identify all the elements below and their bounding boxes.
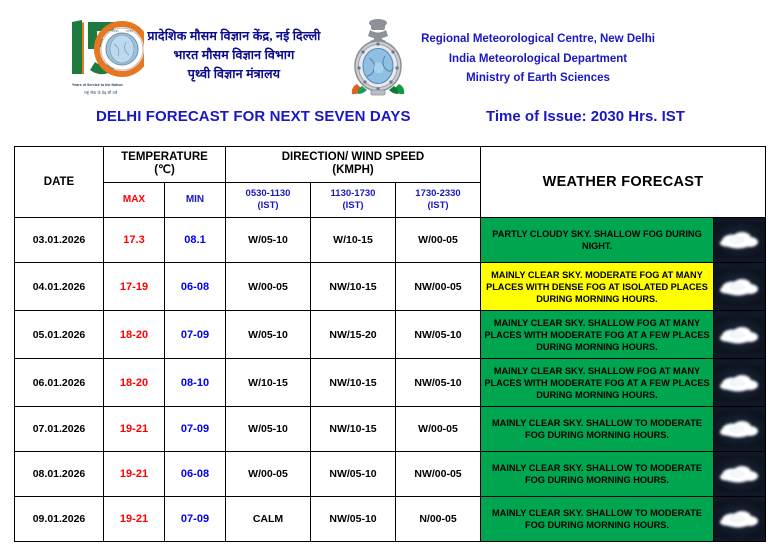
- table-row: 03.01.202617.308.1W/05-10W/10-15W/00-05P…: [15, 218, 766, 263]
- imd-emblem-icon: [345, 16, 411, 100]
- col-header-min: MIN: [165, 182, 226, 218]
- cell-wind-slot-3: W/00-05: [396, 407, 481, 452]
- cell-min-temp: 08-10: [165, 359, 226, 407]
- cell-max-temp: 17.3: [104, 218, 165, 263]
- cell-weather-forecast: MAINLY CLEAR SKY. SHALLOW FOG AT MANY PL…: [481, 359, 714, 407]
- cell-wind-slot-2: NW/05-10: [311, 497, 396, 542]
- cell-max-temp: 19-21: [104, 497, 165, 542]
- cell-min-temp: 08.1: [165, 218, 226, 263]
- cell-date: 09.01.2026: [15, 497, 104, 542]
- table-row: 04.01.202617-1906-08W/00-05NW/10-15NW/00…: [15, 263, 766, 311]
- cell-weather-icon: [714, 407, 766, 452]
- forecast-table-body: 03.01.202617.308.1W/05-10W/10-15W/00-05P…: [15, 218, 766, 542]
- cell-weather-icon: [714, 452, 766, 497]
- cell-wind-slot-2: NW/10-15: [311, 263, 396, 311]
- slot-3-range: 1730-2330: [415, 188, 460, 199]
- cell-max-temp: 19-21: [104, 452, 165, 497]
- cell-date: 08.01.2026: [15, 452, 104, 497]
- col-header-wind: DIRECTION/ WIND SPEED (KMPH): [226, 147, 481, 183]
- cell-date: 03.01.2026: [15, 218, 104, 263]
- hindi-line-3: पृथ्वी विज्ञान मंत्रालय: [128, 65, 340, 84]
- cell-min-temp: 06-08: [165, 452, 226, 497]
- cell-weather-icon: [714, 359, 766, 407]
- table-row: 08.01.202619-2106-08W/00-05NW/05-10NW/00…: [15, 452, 766, 497]
- cell-weather-forecast: MAINLY CLEAR SKY. SHALLOW TO MODERATE FO…: [481, 497, 714, 542]
- wind-unit: (KMPH): [332, 164, 374, 176]
- hindi-org-title: प्रादेशिक मौसम विज्ञान केंद्र, नई दिल्ली…: [128, 27, 340, 84]
- cell-wind-slot-3: NW/05-10: [396, 359, 481, 407]
- title-row: DELHI FORECAST FOR NEXT SEVEN DAYS Time …: [0, 108, 777, 134]
- table-row: 07.01.202619-2107-09W/05-10NW/10-15W/00-…: [15, 407, 766, 452]
- svg-text:राष्ट्र सेवा के डेढ़ सौ वर्ष: राष्ट्र सेवा के डेढ़ सौ वर्ष: [84, 90, 118, 95]
- cloud-icon: [714, 317, 765, 353]
- col-header-temperature: TEMPERATURE (℃): [104, 147, 226, 183]
- cell-weather-forecast: MAINLY CLEAR SKY. SHALLOW TO MODERATE FO…: [481, 407, 714, 452]
- cell-wind-slot-3: NW/05-10: [396, 311, 481, 359]
- svg-text:Years of Service to the Nation: Years of Service to the Nation: [72, 83, 123, 87]
- page-title: DELHI FORECAST FOR NEXT SEVEN DAYS: [96, 108, 411, 125]
- cell-min-temp: 06-08: [165, 263, 226, 311]
- cell-wind-slot-3: NW/00-05: [396, 263, 481, 311]
- cloud-icon: [714, 365, 765, 401]
- cell-max-temp: 17-19: [104, 263, 165, 311]
- svg-text:१८७५: १८७५: [112, 29, 119, 33]
- cell-wind-slot-2: W/10-15: [311, 218, 396, 263]
- temperature-label: TEMPERATURE: [121, 151, 208, 163]
- cell-wind-slot-2: NW/10-15: [311, 407, 396, 452]
- cell-wind-slot-1: W/00-05: [226, 452, 311, 497]
- english-line-3: Ministry of Earth Sciences: [408, 69, 668, 89]
- cell-date: 04.01.2026: [15, 263, 104, 311]
- cell-wind-slot-3: W/00-05: [396, 218, 481, 263]
- cell-weather-icon: [714, 497, 766, 542]
- cell-weather-forecast: PARTLY CLOUDY SKY. SHALLOW FOG DURING NI…: [481, 218, 714, 263]
- cell-weather-icon: [714, 311, 766, 359]
- cell-wind-slot-3: NW/00-05: [396, 452, 481, 497]
- english-line-2: India Meteorological Department: [408, 50, 668, 70]
- page-header: १८७५ २०२५ Years of Service to the Nation…: [0, 0, 777, 100]
- forecast-table-wrap: DATE TEMPERATURE (℃) DIRECTION/ WIND SPE…: [14, 146, 765, 542]
- cell-max-temp: 19-21: [104, 407, 165, 452]
- english-org-title: Regional Meteorological Centre, New Delh…: [408, 30, 668, 89]
- col-header-slot-3: 1730-2330 (IST): [396, 182, 481, 218]
- col-header-max: MAX: [104, 182, 165, 218]
- wind-label: DIRECTION/ WIND SPEED: [282, 151, 424, 163]
- cell-wind-slot-2: NW/10-15: [311, 359, 396, 407]
- cell-max-temp: 18-20: [104, 359, 165, 407]
- table-row: 06.01.202618-2008-10W/10-15NW/10-15NW/05…: [15, 359, 766, 407]
- slot-3-ist: (IST): [427, 200, 448, 211]
- cell-weather-forecast: MAINLY CLEAR SKY. MODERATE FOG AT MANY P…: [481, 263, 714, 311]
- cell-weather-forecast: MAINLY CLEAR SKY. SHALLOW TO MODERATE FO…: [481, 452, 714, 497]
- cell-wind-slot-1: W/05-10: [226, 407, 311, 452]
- cell-wind-slot-2: NW/05-10: [311, 452, 396, 497]
- cell-weather-forecast: MAINLY CLEAR SKY. SHALLOW FOG AT MANY PL…: [481, 311, 714, 359]
- cell-wind-slot-1: W/05-10: [226, 311, 311, 359]
- cell-wind-slot-1: W/10-15: [226, 359, 311, 407]
- cloud-icon: [714, 411, 765, 447]
- col-header-slot-1: 0530-1130 (IST): [226, 182, 311, 218]
- hindi-line-1: प्रादेशिक मौसम विज्ञान केंद्र, नई दिल्ली: [128, 27, 340, 46]
- cell-wind-slot-1: CALM: [226, 497, 311, 542]
- cell-min-temp: 07-09: [165, 497, 226, 542]
- slot-1-ist: (IST): [257, 200, 278, 211]
- temperature-unit: (℃): [154, 164, 175, 176]
- cell-weather-icon: [714, 218, 766, 263]
- english-line-1: Regional Meteorological Centre, New Delh…: [408, 30, 668, 50]
- cloud-icon: [714, 456, 765, 492]
- cell-wind-slot-1: W/05-10: [226, 218, 311, 263]
- cell-min-temp: 07-09: [165, 311, 226, 359]
- cell-weather-icon: [714, 263, 766, 311]
- cell-min-temp: 07-09: [165, 407, 226, 452]
- cell-wind-slot-3: N/00-05: [396, 497, 481, 542]
- slot-2-range: 1130-1730: [331, 188, 376, 199]
- cell-date: 06.01.2026: [15, 359, 104, 407]
- cloud-icon: [714, 269, 765, 305]
- cell-date: 07.01.2026: [15, 407, 104, 452]
- cell-max-temp: 18-20: [104, 311, 165, 359]
- slot-2-ist: (IST): [342, 200, 363, 211]
- table-row: 09.01.202619-2107-09CALMNW/05-10N/00-05M…: [15, 497, 766, 542]
- cell-wind-slot-1: W/00-05: [226, 263, 311, 311]
- slot-1-range: 0530-1130: [246, 188, 291, 199]
- hindi-line-2: भारत मौसम विज्ञान विभाग: [128, 46, 340, 65]
- col-header-weather-forecast: WEATHER FORECAST: [481, 147, 766, 218]
- col-header-slot-2: 1130-1730 (IST): [311, 182, 396, 218]
- table-header-row-1: DATE TEMPERATURE (℃) DIRECTION/ WIND SPE…: [15, 147, 766, 183]
- issue-time-label: Time of Issue: 2030 Hrs. IST: [486, 108, 685, 125]
- cloud-icon: [714, 501, 765, 537]
- forecast-table: DATE TEMPERATURE (℃) DIRECTION/ WIND SPE…: [14, 146, 766, 542]
- cell-wind-slot-2: NW/15-20: [311, 311, 396, 359]
- table-row: 05.01.202618-2007-09W/05-10NW/15-20NW/05…: [15, 311, 766, 359]
- cloud-icon: [714, 222, 765, 258]
- cell-date: 05.01.2026: [15, 311, 104, 359]
- col-header-date: DATE: [15, 147, 104, 218]
